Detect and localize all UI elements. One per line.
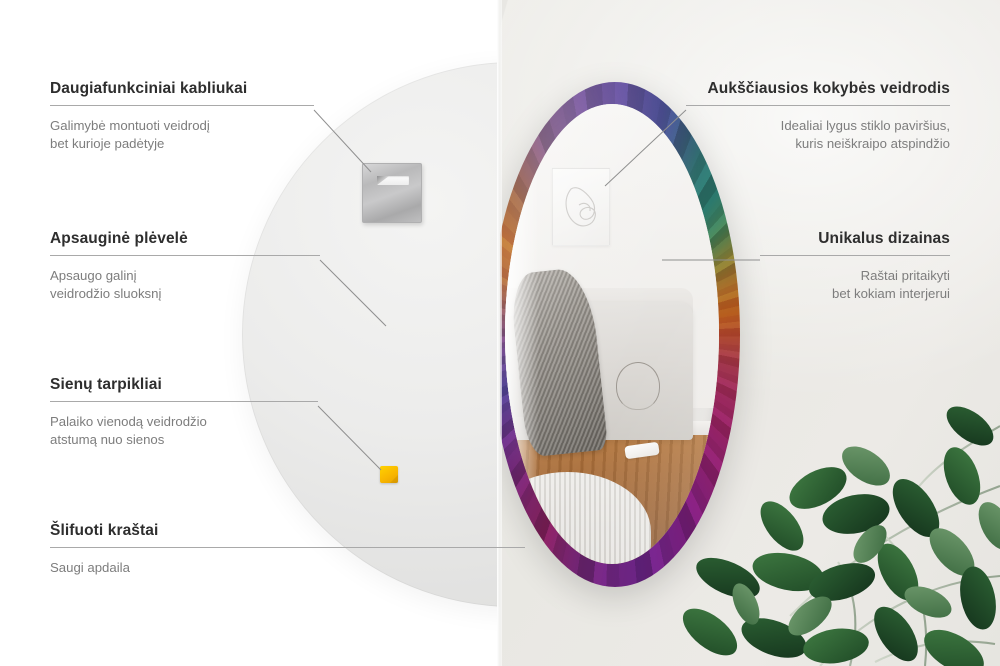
callout-unique-design: Unikalus dizainas Raštai pritaikyti bet … (760, 230, 950, 303)
multifunction-hook (362, 163, 422, 223)
reflection-hanging-chair (616, 362, 660, 410)
callout-description: Palaiko vienodą veidrodžio atstumą nuo s… (50, 413, 318, 449)
callout-ground-edges: Šlifuoti kraštai Saugi apdaila (50, 522, 525, 577)
infographic-canvas: Daugiafunkciniai kabliukai Galimybė mont… (0, 0, 1000, 666)
wall-spacer (380, 466, 398, 483)
line-art-face-icon (557, 175, 607, 241)
callout-rule (50, 401, 318, 402)
callout-title: Sienų tarpikliai (50, 376, 318, 394)
callout-description: Galimybė montuoti veidrodį bet kurioje p… (50, 117, 314, 153)
foliage-decoration (670, 366, 1000, 666)
hook-keyhole-slot (377, 176, 409, 185)
callout-rule (760, 255, 950, 256)
callout-title: Unikalus dizainas (760, 230, 950, 248)
callout-multifunction-hooks: Daugiafunkciniai kabliukai Galimybė mont… (50, 80, 314, 153)
callout-rule (50, 255, 320, 256)
callout-title: Daugiafunkciniai kabliukai (50, 80, 314, 98)
callout-description: Saugi apdaila (50, 559, 525, 577)
callout-wall-spacers: Sienų tarpikliai Palaiko vienodą veidrod… (50, 376, 318, 449)
callout-description: Apsaugo galinį veidrodžio sluoksnį (50, 267, 320, 303)
callout-description: Idealiai lygus stiklo paviršius, kuris n… (686, 117, 950, 153)
callout-rule (50, 547, 525, 548)
callout-title: Aukščiausios kokybės veidrodis (686, 80, 950, 98)
reflection-wall-art (552, 168, 610, 246)
callout-top-quality-mirror: Aukščiausios kokybės veidrodis Idealiai … (686, 80, 950, 153)
callout-protective-film: Apsauginė plėvelė Apsaugo galinį veidrod… (50, 230, 320, 303)
callout-rule (686, 105, 950, 106)
callout-title: Apsauginė plėvelė (50, 230, 320, 248)
callout-rule (50, 105, 314, 106)
callout-title: Šlifuoti kraštai (50, 522, 525, 540)
callout-description: Raštai pritaikyti bet kokiam interjerui (760, 267, 950, 303)
